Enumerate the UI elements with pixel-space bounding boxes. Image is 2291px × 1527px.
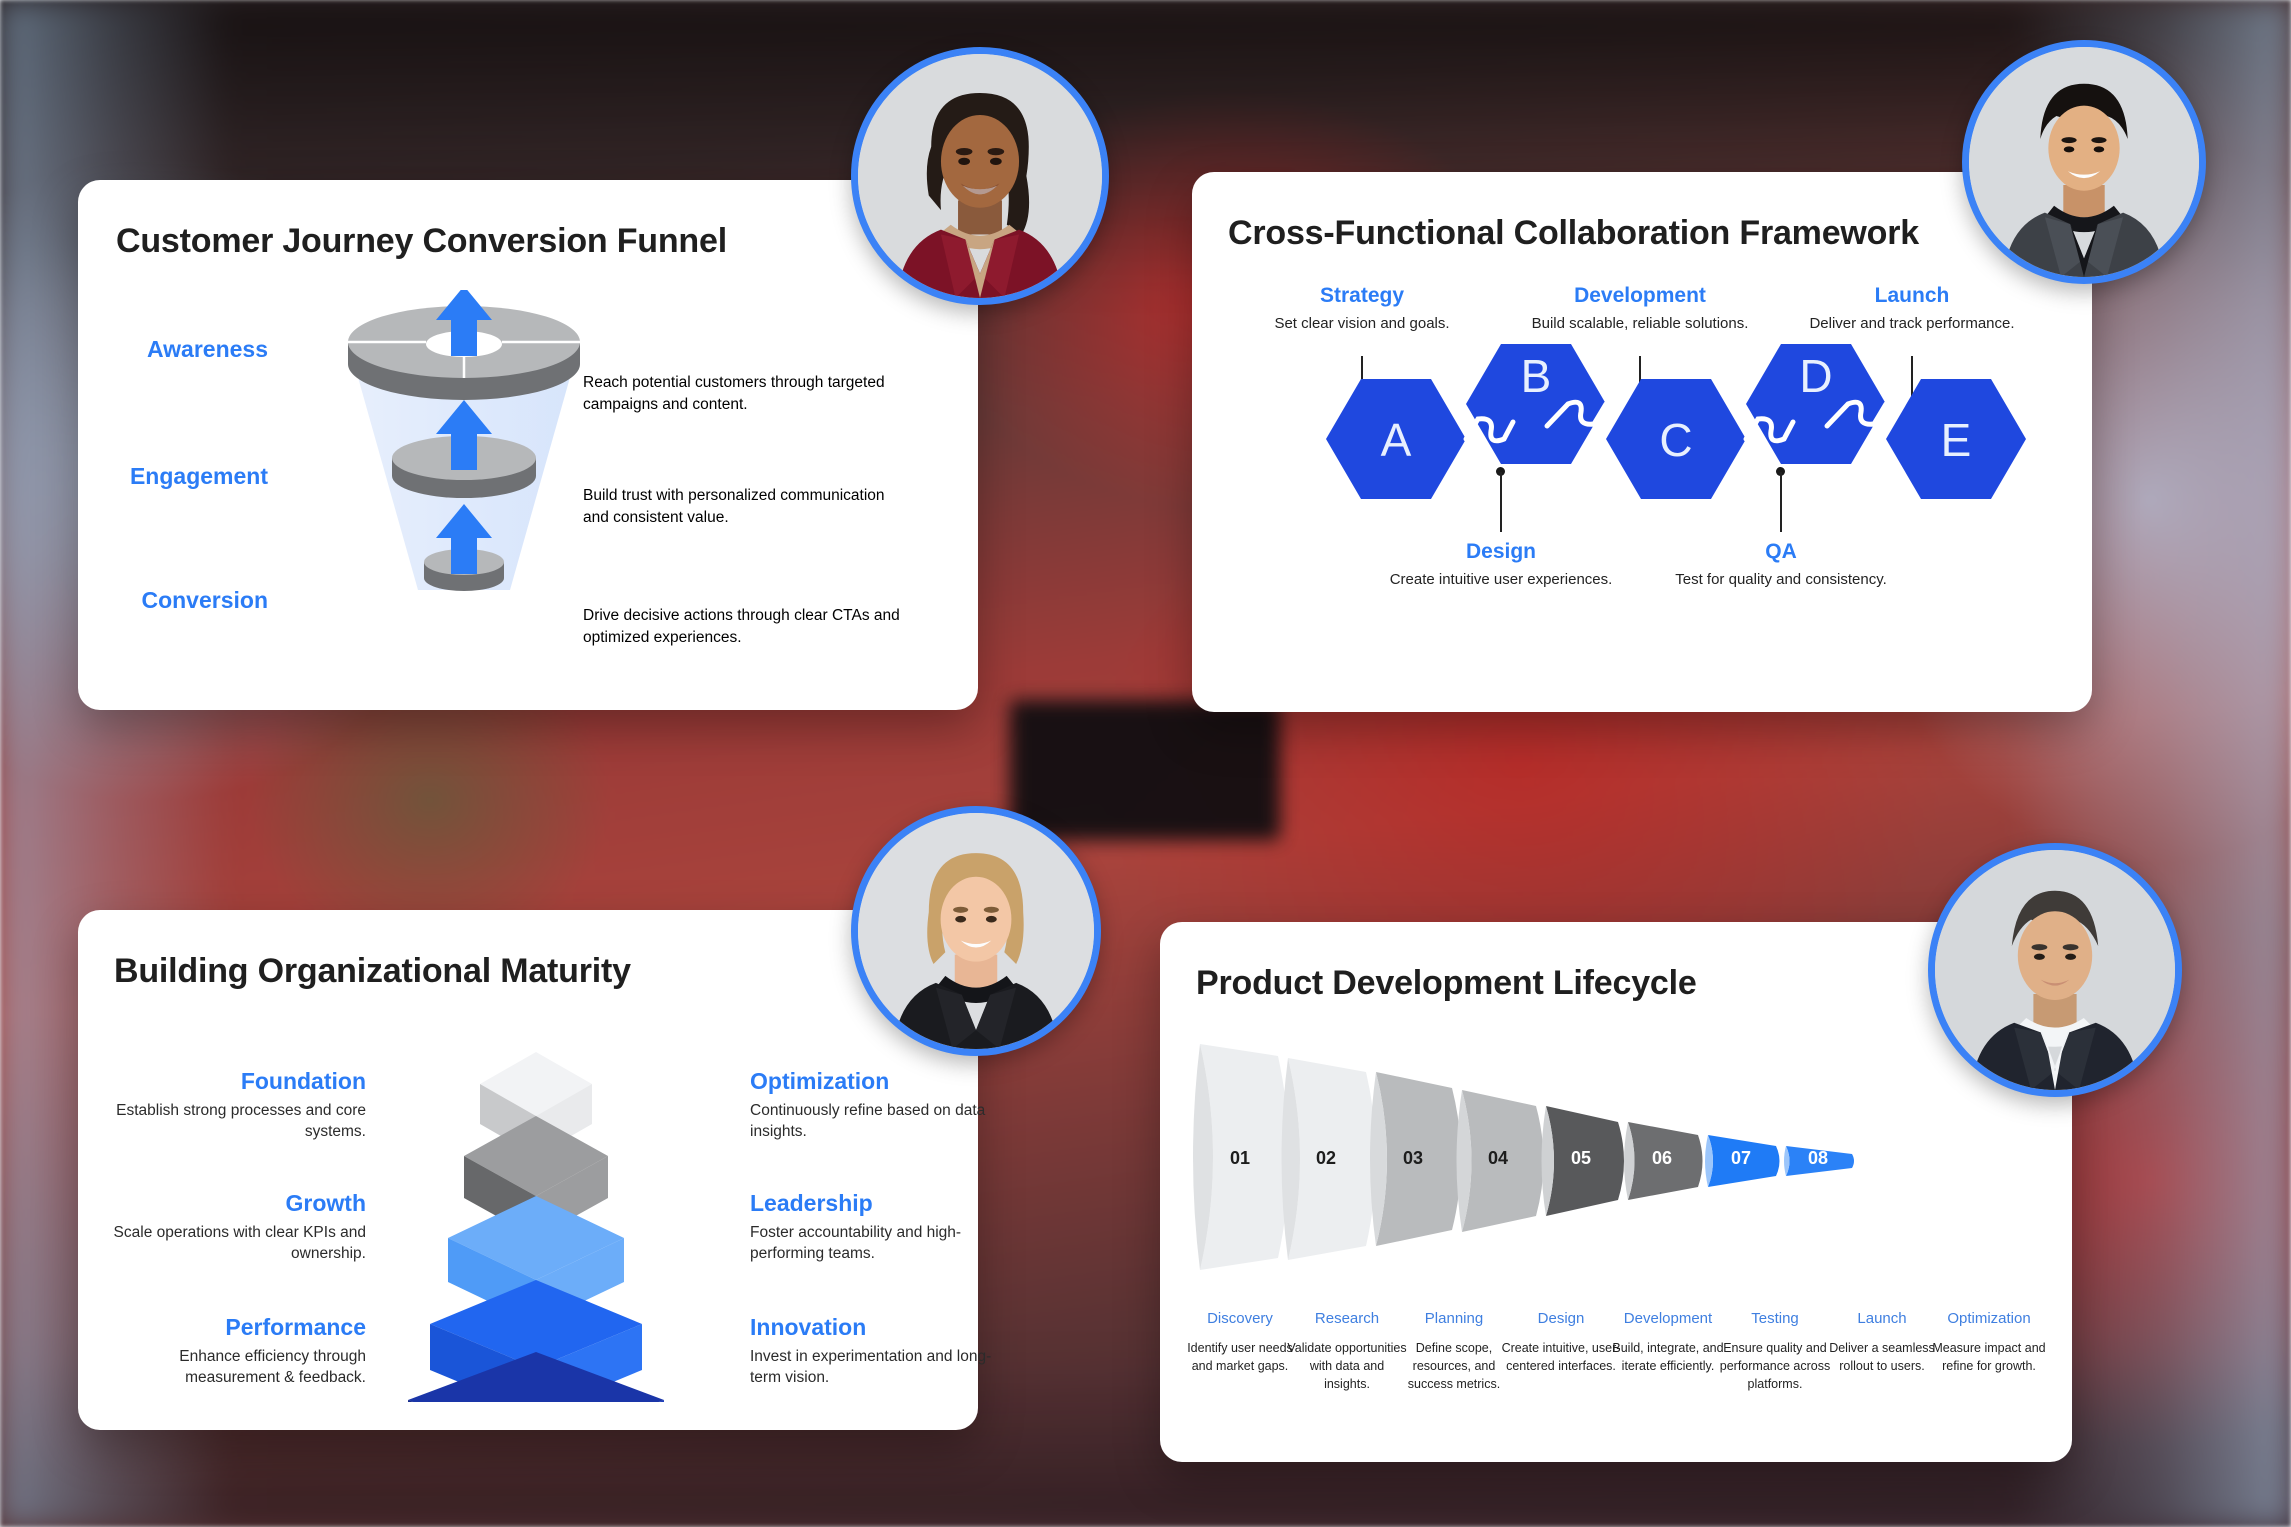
- connector-stem-design: [1500, 472, 1502, 532]
- maturity-item-growth: Growth Scale operations with clear KPIs …: [106, 1190, 366, 1264]
- avatar-bottom-right[interactable]: [1928, 843, 2182, 1097]
- maturity-optimization-desc: Continuously refine based on data insigh…: [750, 1102, 985, 1140]
- maturity-leadership-label: Leadership: [750, 1190, 1010, 1217]
- hexagon-puzzle-graphic: A B C D E: [1276, 344, 2056, 534]
- lifecycle-item-planning: Planning Define scope, resources, and su…: [1394, 1310, 1514, 1393]
- lifecycle-step-number-08: 08: [1808, 1148, 1828, 1168]
- lifecycle-item-launch: Launch Deliver a seamless rollout to use…: [1822, 1310, 1942, 1375]
- lifecycle-research-desc: Validate opportunities with data and ins…: [1287, 1341, 1406, 1391]
- presenter-portrait-4-image: [1935, 850, 2175, 1090]
- hex-design-label: Design: [1351, 540, 1651, 564]
- avatar-bottom-left[interactable]: [851, 806, 1101, 1056]
- lifecycle-item-testing: Testing Ensure quality and performance a…: [1715, 1310, 1835, 1393]
- lifecycle-research-label: Research: [1287, 1310, 1407, 1327]
- page-title: Product Development Lifecycle: [1196, 964, 1697, 1003]
- maturity-foundation-desc: Establish strong processes and core syst…: [116, 1102, 366, 1140]
- lifecycle-design-label: Design: [1501, 1310, 1621, 1327]
- maturity-optimization-label: Optimization: [750, 1068, 1010, 1095]
- hex-label-design: Design Create intuitive user experiences…: [1351, 540, 1651, 589]
- lifecycle-step-number-01: 01: [1230, 1148, 1250, 1168]
- lifecycle-step-number-02: 02: [1316, 1148, 1336, 1168]
- lifecycle-optimization-desc: Measure impact and refine for growth.: [1932, 1341, 2045, 1373]
- lifecycle-step-number-03: 03: [1403, 1148, 1423, 1168]
- hex-label-launch: Launch Deliver and track performance.: [1762, 284, 2062, 333]
- lifecycle-item-research: Research Validate opportunities with dat…: [1287, 1310, 1407, 1393]
- lifecycle-discovery-label: Discovery: [1180, 1310, 1300, 1327]
- funnel-stage-label-awareness: Awareness: [68, 336, 268, 363]
- maturity-foundation-label: Foundation: [106, 1068, 366, 1095]
- maturity-performance-desc: Enhance efficiency through measurement &…: [179, 1348, 366, 1386]
- page-title: Cross-Functional Collaboration Framework: [1228, 214, 1919, 253]
- funnel-stage-engagement-desc: Build trust with personalized communicat…: [583, 485, 903, 529]
- hex-label-strategy: Strategy Set clear vision and goals.: [1212, 284, 1512, 333]
- funnel-stage-conversion-label: Conversion: [141, 587, 268, 613]
- funnel-stage-awareness-label: Awareness: [147, 336, 268, 362]
- presenter-portrait-2-image: [1969, 47, 2199, 277]
- avatar-top-left[interactable]: [851, 47, 1109, 305]
- avatar-top-right[interactable]: [1962, 40, 2206, 284]
- maturity-leadership-desc: Foster accountability and high-performin…: [750, 1224, 961, 1262]
- pyramid-graphic: [356, 1042, 716, 1402]
- presenter-portrait-1-image: [858, 54, 1102, 298]
- lifecycle-optimization-label: Optimization: [1929, 1310, 2049, 1327]
- connector-stem-qa: [1780, 472, 1782, 532]
- lifecycle-launch-desc: Deliver a seamless rollout to users.: [1829, 1341, 1935, 1373]
- hex-letter-d: D: [1799, 350, 1832, 402]
- lifecycle-development-label: Development: [1608, 1310, 1728, 1327]
- hex-qa-label: QA: [1631, 540, 1931, 564]
- lifecycle-launch-label: Launch: [1822, 1310, 1942, 1327]
- maturity-innovation-label: Innovation: [750, 1314, 1010, 1341]
- funnel-stage-label-conversion: Conversion: [68, 587, 268, 614]
- maturity-item-foundation: Foundation Establish strong processes an…: [106, 1068, 366, 1142]
- hex-strategy-label: Strategy: [1212, 284, 1512, 308]
- maturity-item-performance: Performance Enhance efficiency through m…: [106, 1314, 366, 1388]
- presenter-portrait-3-image: [858, 813, 1094, 1049]
- background-monitor: [1010, 700, 1280, 840]
- maturity-item-leadership: Leadership Foster accountability and hig…: [750, 1190, 1010, 1264]
- hex-label-qa: QA Test for quality and consistency.: [1631, 540, 1931, 589]
- maturity-performance-label: Performance: [106, 1314, 366, 1341]
- hex-letter-a: A: [1381, 414, 1412, 466]
- hex-letter-c: C: [1659, 414, 1692, 466]
- maturity-growth-label: Growth: [106, 1190, 366, 1217]
- page-title: Customer Journey Conversion Funnel: [116, 222, 727, 261]
- hex-launch-label: Launch: [1762, 284, 2062, 308]
- lifecycle-testing-desc: Ensure quality and performance across pl…: [1720, 1341, 1830, 1391]
- funnel-stage-conversion-desc: Drive decisive actions through clear CTA…: [583, 605, 903, 649]
- maturity-growth-desc: Scale operations with clear KPIs and own…: [114, 1224, 366, 1262]
- funnel-stage-awareness-desc: Reach potential customers through target…: [583, 372, 903, 416]
- maturity-item-innovation: Innovation Invest in experimentation and…: [750, 1314, 1010, 1388]
- maturity-item-optimization: Optimization Continuously refine based o…: [750, 1068, 1010, 1142]
- hex-qa-desc: Test for quality and consistency.: [1675, 571, 1887, 588]
- lifecycle-item-design: Design Create intuitive, user-centered i…: [1501, 1310, 1621, 1375]
- hex-strategy-desc: Set clear vision and goals.: [1274, 315, 1449, 332]
- card-customer-journey-conversion-funnel[interactable]: Customer Journey Conversion Funnel Aware…: [78, 180, 978, 710]
- card-cross-functional-collaboration-framework[interactable]: Cross-Functional Collaboration Framework…: [1192, 172, 2092, 712]
- lifecycle-discovery-desc: Identify user needs and market gaps.: [1187, 1341, 1293, 1373]
- hex-development-desc: Build scalable, reliable solutions.: [1532, 315, 1749, 332]
- lifecycle-item-optimization: Optimization Measure impact and refine f…: [1929, 1310, 2049, 1375]
- lifecycle-step-number-07: 07: [1731, 1148, 1751, 1168]
- hex-launch-desc: Deliver and track performance.: [1809, 315, 2014, 332]
- funnel-graphic: [304, 290, 624, 620]
- maturity-innovation-desc: Invest in experimentation and long-term …: [750, 1348, 991, 1386]
- hex-label-development: Development Build scalable, reliable sol…: [1490, 284, 1790, 333]
- lifecycle-item-discovery: Discovery Identify user needs and market…: [1180, 1310, 1300, 1375]
- lifecycle-item-development: Development Build, integrate, and iterat…: [1608, 1310, 1728, 1375]
- hex-design-desc: Create intuitive user experiences.: [1390, 571, 1613, 588]
- lifecycle-design-desc: Create intuitive, user-centered interfac…: [1502, 1341, 1621, 1373]
- hex-letter-b: B: [1521, 350, 1552, 402]
- lifecycle-funnel-graphic: 01 02 03 04 05 06 07 08: [1192, 1032, 2052, 1282]
- lifecycle-planning-desc: Define scope, resources, and success met…: [1408, 1341, 1500, 1391]
- lifecycle-step-number-06: 06: [1652, 1148, 1672, 1168]
- lifecycle-planning-label: Planning: [1394, 1310, 1514, 1327]
- lifecycle-step-number-04: 04: [1488, 1148, 1508, 1168]
- card-building-organizational-maturity[interactable]: Building Organizational Maturity Foundat…: [78, 910, 978, 1430]
- funnel-stage-engagement-label: Engagement: [130, 463, 268, 489]
- lifecycle-step-number-05: 05: [1571, 1148, 1591, 1168]
- hex-development-label: Development: [1490, 284, 1790, 308]
- page-title: Building Organizational Maturity: [114, 952, 631, 991]
- lifecycle-development-desc: Build, integrate, and iterate efficientl…: [1612, 1341, 1723, 1373]
- hex-letter-e: E: [1941, 414, 1972, 466]
- funnel-stage-label-engagement: Engagement: [68, 463, 268, 490]
- lifecycle-testing-label: Testing: [1715, 1310, 1835, 1327]
